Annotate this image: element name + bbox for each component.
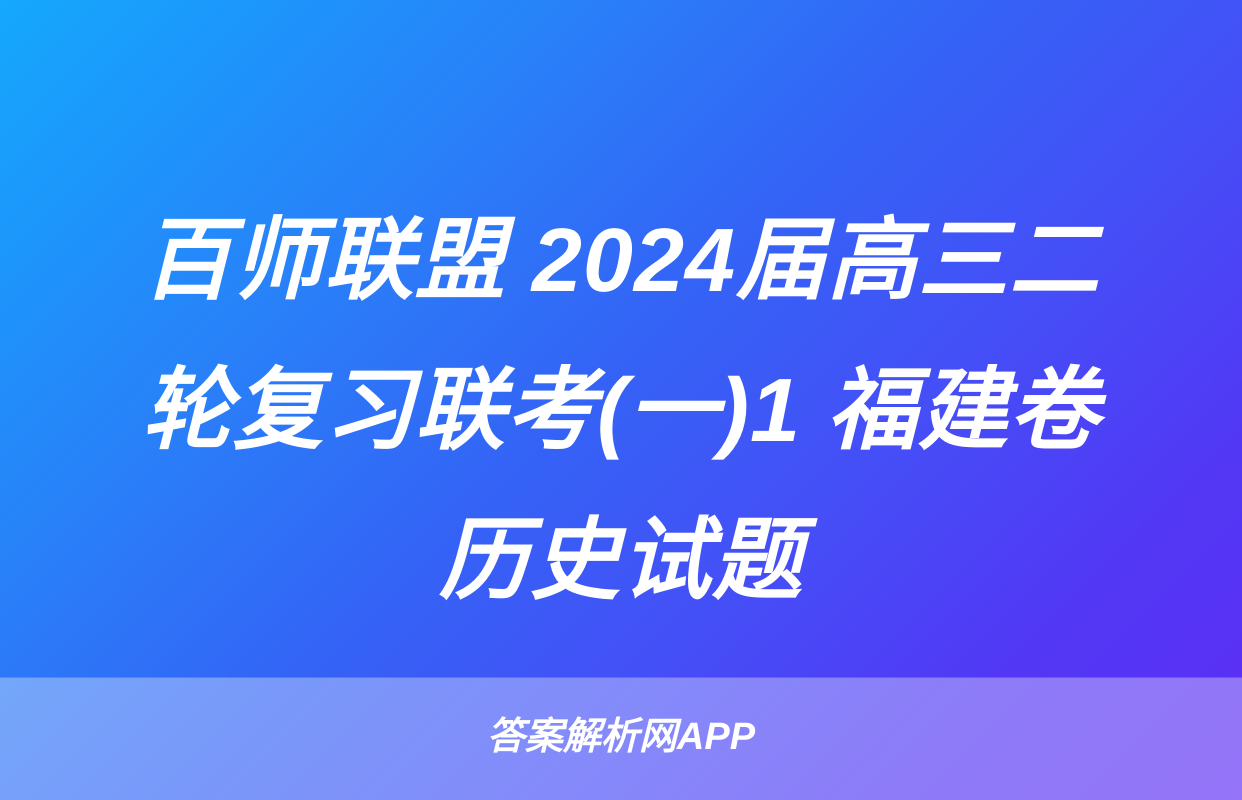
- cover-title-block: 百师联盟 2024届高三二 轮复习联考(一)1 福建卷 历史试题: [0, 186, 1242, 636]
- cover-title-line-1: 百师联盟 2024届高三二: [78, 186, 1164, 336]
- cover-title-line-3: 历史试题: [78, 486, 1164, 636]
- cover-title-line-2: 轮复习联考(一)1 福建卷: [78, 336, 1164, 486]
- exam-cover-image: 百师联盟 2024届高三二 轮复习联考(一)1 福建卷 历史试题 答案解析网AP…: [0, 0, 1242, 800]
- watermark: 答案解析网APP: [0, 715, 1242, 759]
- watermark-text: 答案解析网APP: [487, 715, 755, 759]
